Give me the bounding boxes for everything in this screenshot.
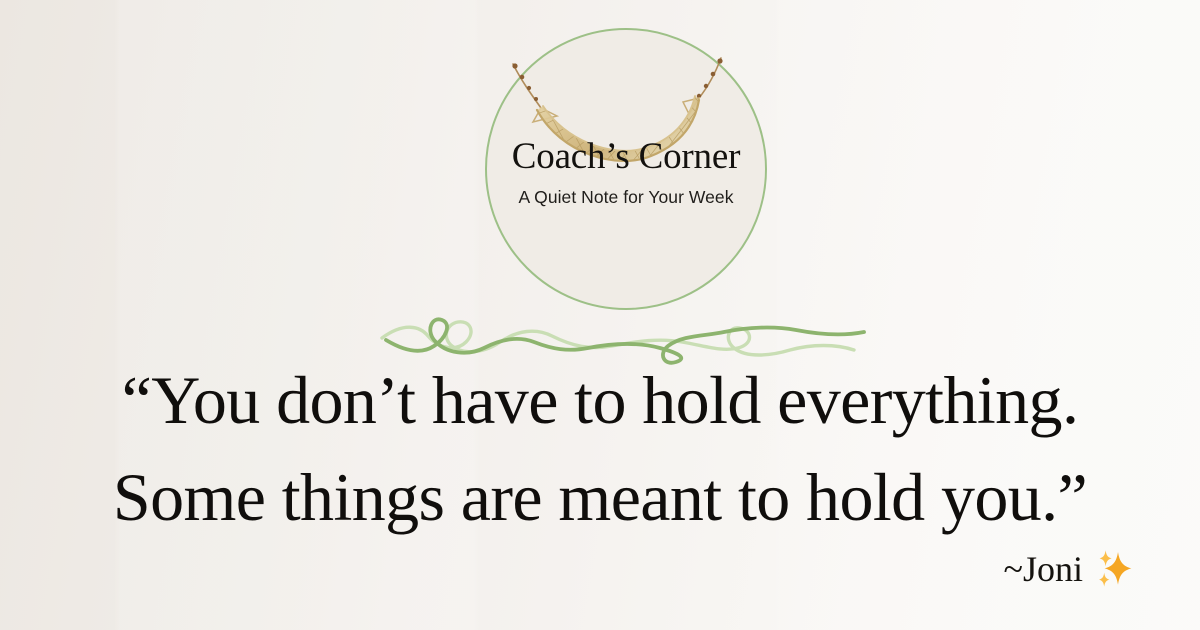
quote-block: “You don’t have to hold everything. Some… (0, 352, 1200, 546)
logo-title: Coach’s Corner (487, 138, 765, 177)
quote-card: Coach’s Corner A Quiet Note for Your Wee… (0, 0, 1200, 630)
quote-line-1: “You don’t have to hold everything. (78, 352, 1122, 449)
quote-line-2: Some things are meant to hold you.” (78, 449, 1122, 546)
attribution-name: ~Joni (1004, 548, 1084, 590)
attribution: ~Joni (1004, 548, 1135, 590)
logo-badge: Coach’s Corner A Quiet Note for Your Wee… (485, 28, 767, 310)
logo-subtitle: A Quiet Note for Your Week (487, 187, 765, 208)
sparkles-icon (1092, 548, 1134, 590)
